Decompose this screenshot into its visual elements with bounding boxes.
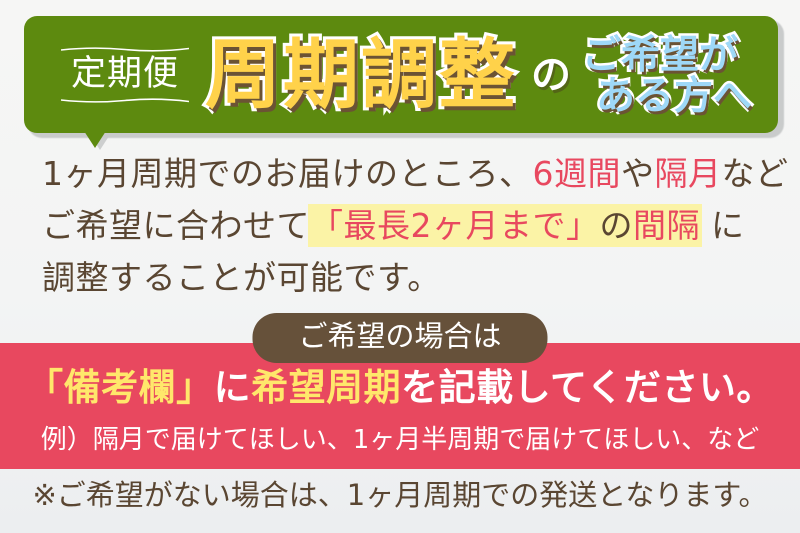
header-wish-line2: ある方へ	[596, 76, 752, 117]
text-run-3: 間隔	[633, 206, 700, 245]
body-line-2: ご希望に合わせて「最長2ヶ月まで」の間隔 に	[42, 200, 782, 252]
header-tail	[84, 131, 106, 148]
text-run-0: 調整することが可能です。	[42, 258, 441, 297]
wave-rule-bottom-icon	[61, 97, 189, 104]
band-headline: 「備考欄」に希望周期を記載してください。	[0, 366, 800, 410]
body-line-1: 1ヶ月周期でのお届けのところ、6週間や隔月など	[42, 148, 782, 200]
text-run-0: 「備考欄」	[26, 366, 214, 409]
text-run-1: 6週間	[533, 154, 622, 193]
text-run-4: に	[700, 206, 745, 245]
text-run-1: 「最長2ヶ月まで」	[310, 206, 600, 245]
header-wish-group: ご希望が ある方へ	[582, 26, 752, 126]
header-title-group: 周期調整 の	[205, 16, 571, 133]
text-run-0: ご希望に合わせて	[42, 206, 310, 245]
text-run-4: など	[722, 154, 789, 193]
header-wish-line1: ご希望が	[582, 35, 738, 76]
footer-note: ※ご希望がない場合は、1ヶ月周期での発送となります。	[0, 478, 800, 513]
body-line-3: 調整することが可能です。	[42, 252, 782, 304]
text-run-2: 希望周期	[251, 366, 401, 409]
wave-rule-top-icon	[61, 46, 189, 53]
body-paragraph: 1ヶ月周期でのお届けのところ、6週間や隔月など ご希望に合わせて「最長2ヶ月まで…	[42, 148, 782, 304]
text-run-2: や	[621, 154, 655, 193]
text-run-2: の	[600, 206, 634, 245]
band-example: 例）隔月で届けてほしい、1ヶ月半周期で届けてほしい、など	[0, 425, 800, 456]
text-run-0: 1ヶ月周期でのお届けのところ、	[42, 154, 533, 193]
text-run-1: に	[214, 366, 252, 409]
subscription-badge-label: 定期便	[71, 53, 179, 97]
header-title: 周期調整	[205, 37, 517, 113]
banner-stage: 定期便 周期調整 の ご希望が ある方へ 1ヶ月周期でのお届けのところ、6週間や…	[0, 0, 800, 533]
condition-pill: ご希望の場合は	[252, 313, 547, 363]
text-run-3: 隔月	[655, 154, 722, 193]
subscription-badge: 定期便	[57, 38, 193, 112]
text-run-3: を記載してください。	[401, 366, 774, 409]
header-title-particle: の	[531, 55, 571, 95]
